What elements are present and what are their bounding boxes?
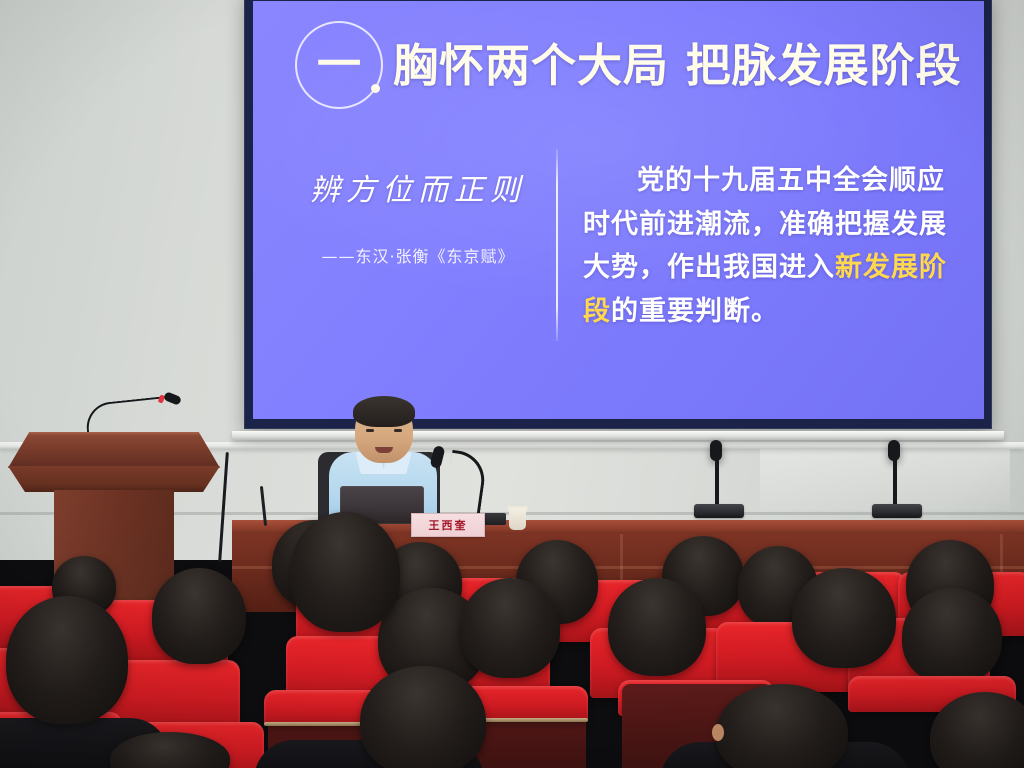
projection-screen-frame: 一 胸怀两个大局 把脉发展阶段 辨方位而正则 ——东汉·张衡《东京赋》 党的十九… xyxy=(244,0,992,429)
audience-head-f2 xyxy=(290,512,400,632)
podium-lip xyxy=(8,466,220,492)
speaker-eye-left xyxy=(366,429,374,432)
slide-title: 胸怀两个大局 把脉发展阶段 xyxy=(393,43,962,88)
table-microphone-2-base xyxy=(872,504,922,518)
wall-panel-right xyxy=(760,448,1010,510)
table-microphone-2-stem xyxy=(893,456,897,506)
audience-head-f1 xyxy=(6,596,128,724)
slide-body-text: 党的十九届五中全会顺应时代前进潮流，准确把握发展大势，作出我国进入新发展阶段的重… xyxy=(583,159,962,334)
projection-screen-casing xyxy=(232,431,1004,440)
audience-head-b5 xyxy=(792,568,896,668)
audience-head-b6 xyxy=(902,588,1002,684)
nameplate: 王西奎 xyxy=(411,513,485,537)
slide-quote-block: 辨方位而正则 ——东汉·张衡《东京赋》 xyxy=(289,173,547,267)
table-microphone-1-stem xyxy=(715,456,719,506)
paper-cup xyxy=(509,508,526,530)
nameplate-text: 王西奎 xyxy=(429,517,468,533)
lecture-hall-scene: 一 胸怀两个大局 把脉发展阶段 辨方位而正则 ——东汉·张衡《东京赋》 党的十九… xyxy=(0,0,1024,768)
podium-top-surface xyxy=(8,432,220,468)
speaker-hair xyxy=(353,396,415,427)
audience-head-b1 xyxy=(152,568,246,664)
table-microphone-1-base xyxy=(694,504,744,518)
presentation-slide: 一 胸怀两个大局 把脉发展阶段 辨方位而正则 ——东汉·张衡《东京赋》 党的十九… xyxy=(253,1,984,419)
slide-vertical-divider xyxy=(556,149,558,341)
section-number-badge: 一 xyxy=(295,21,383,109)
speaker-eye-right xyxy=(394,429,402,432)
audience-head-f4 xyxy=(716,684,848,768)
slide-quote-attribution: ——东汉·张衡《东京赋》 xyxy=(289,243,547,267)
audience-ear-f4 xyxy=(712,724,724,741)
slide-body-tail: 的重要判断。 xyxy=(611,296,779,327)
audience-head-b4 xyxy=(608,578,706,676)
section-number: 一 xyxy=(317,43,361,87)
audience-head-f3 xyxy=(360,666,486,768)
section-number-dot-icon xyxy=(371,84,380,93)
slide-quote-text: 辨方位而正则 xyxy=(289,173,547,209)
slide-title-row: 一 胸怀两个大局 把脉发展阶段 xyxy=(295,17,958,113)
audience-head-b3 xyxy=(460,578,560,678)
